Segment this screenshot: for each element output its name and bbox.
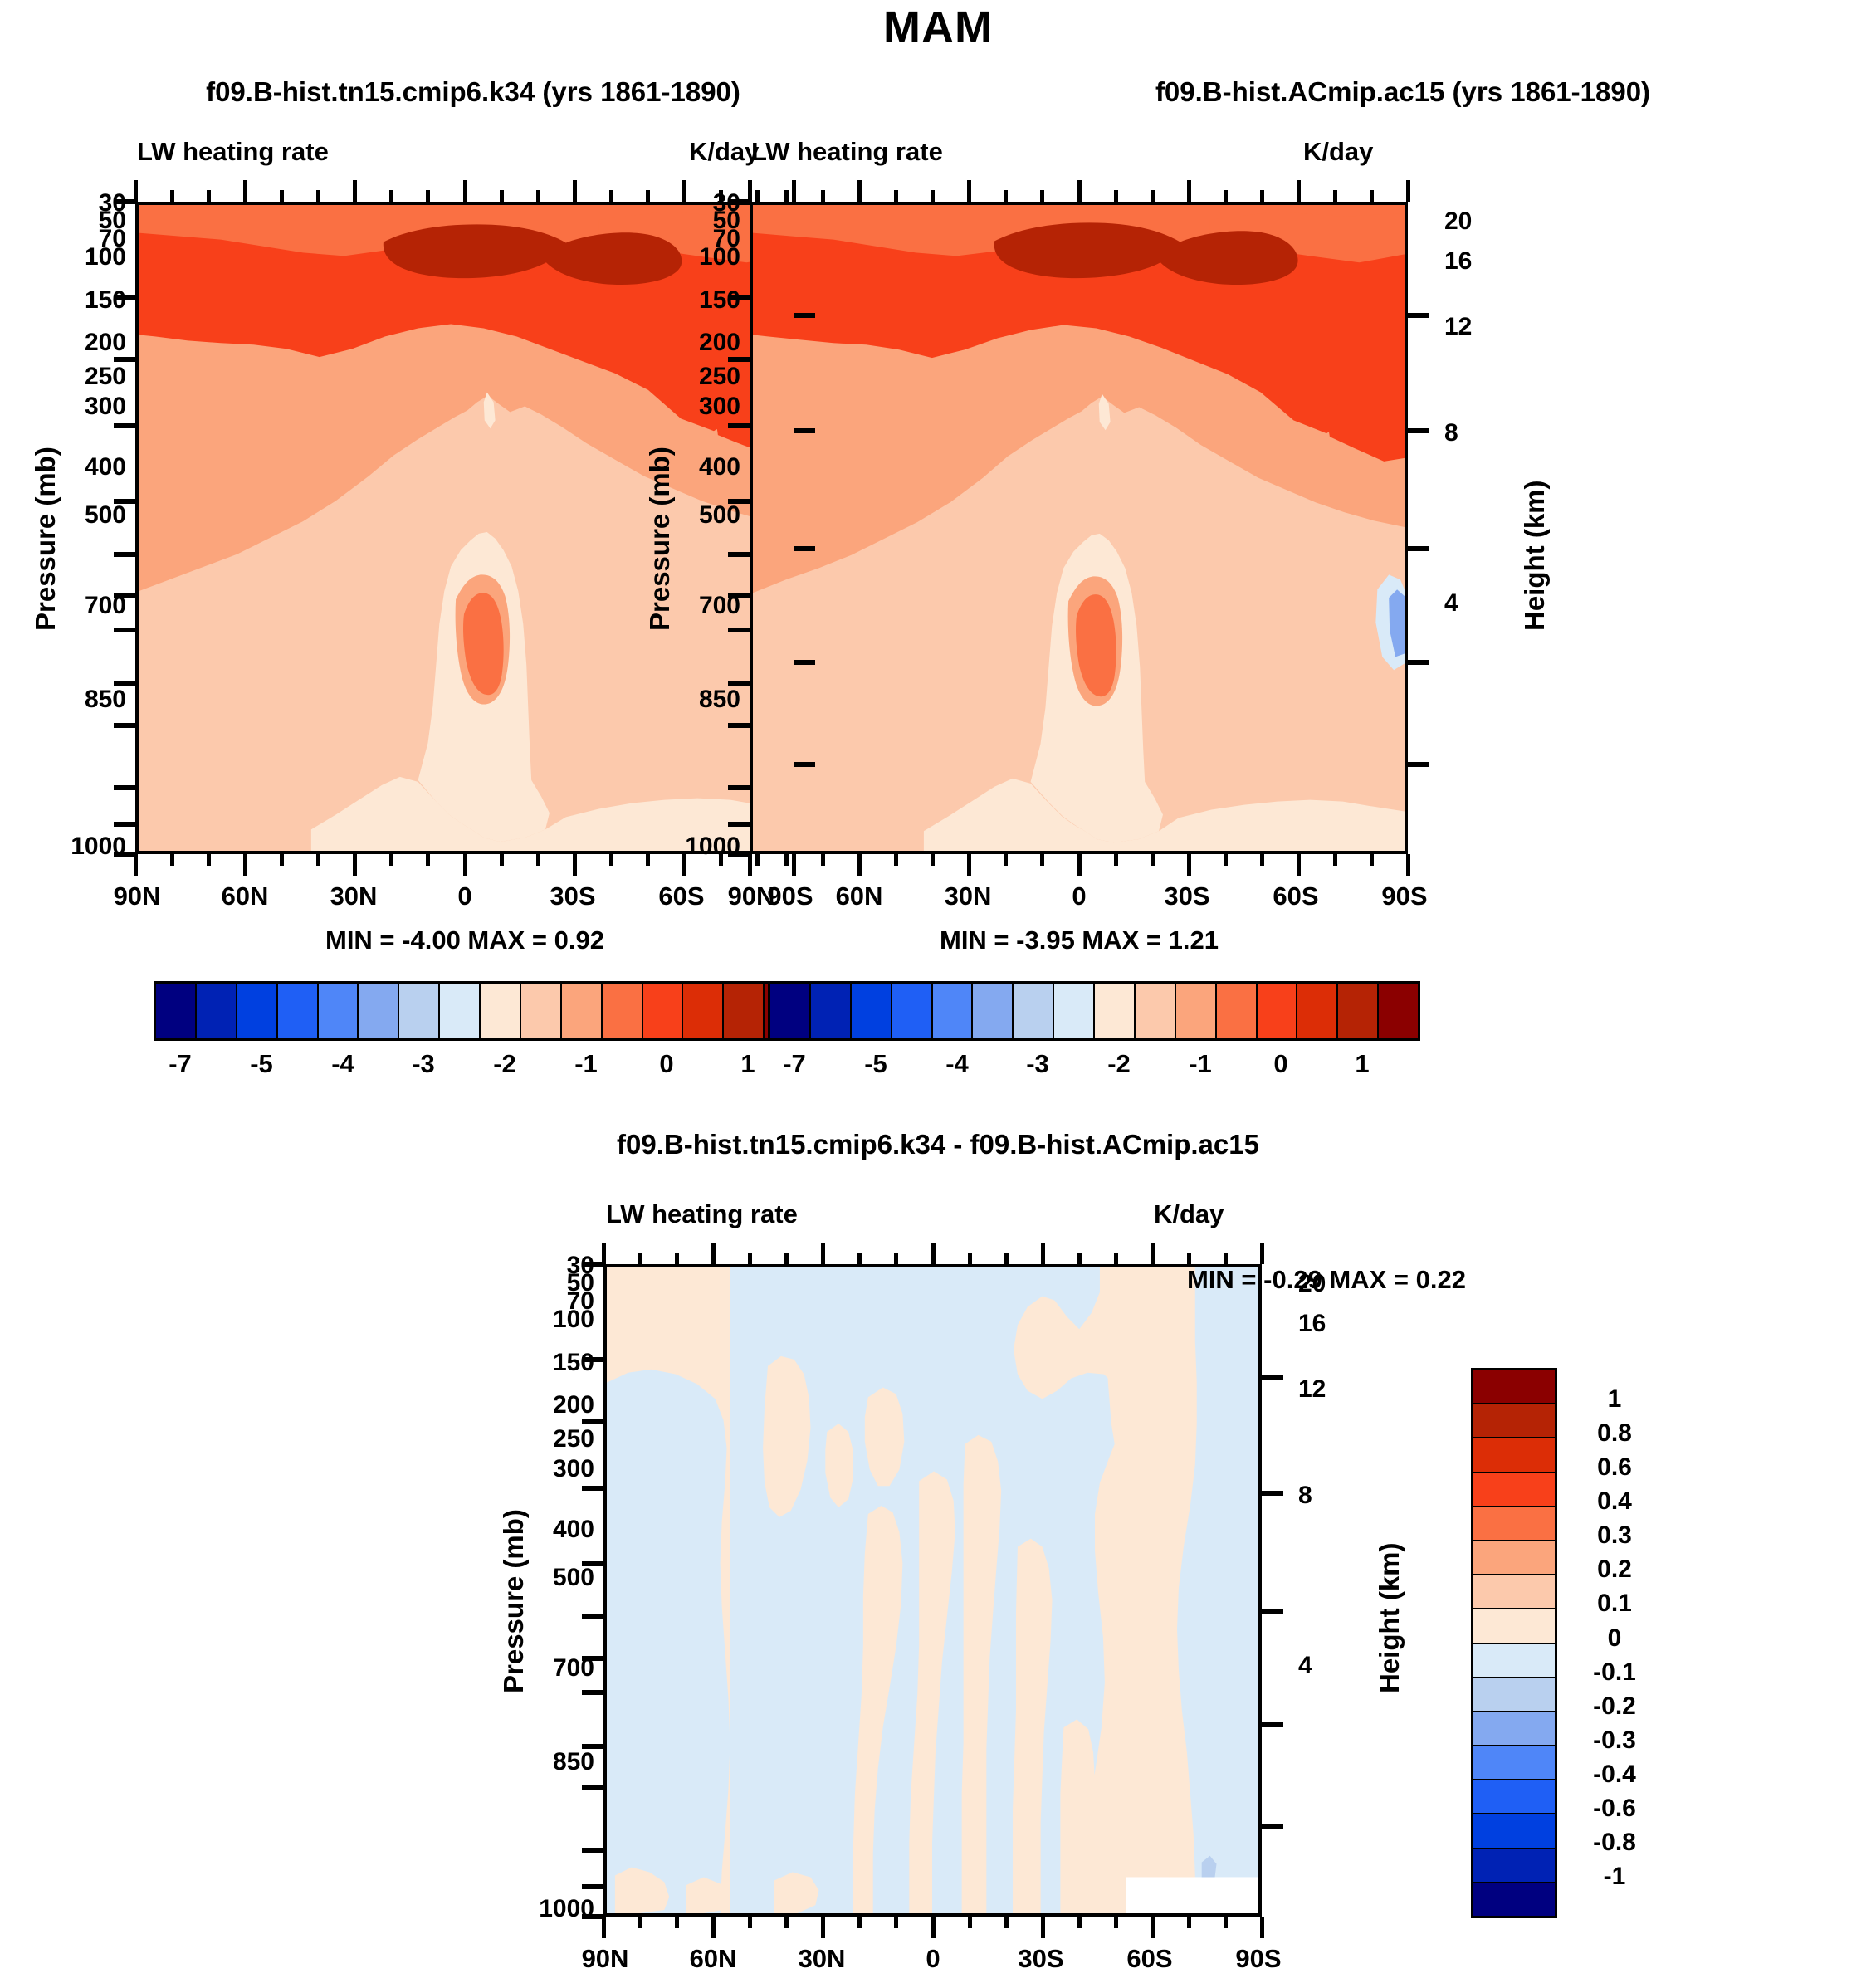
x-axis-major-tick — [1297, 854, 1301, 876]
colorbar-swatch — [1297, 984, 1338, 1038]
units-label-right: K/day — [1303, 137, 1373, 167]
x-axis-major-tick — [243, 854, 247, 876]
y2-axis-tick — [1262, 1491, 1283, 1496]
y-axis-tick — [728, 357, 750, 362]
y-axis-tick — [114, 681, 135, 686]
x-axis-top-minor-tick — [389, 190, 393, 202]
colorbar-swatch — [770, 984, 811, 1038]
colorbar-swatch — [359, 984, 399, 1038]
colorbar-swatch — [1473, 1849, 1555, 1883]
x-axis-major-tick — [463, 854, 467, 876]
x-axis-top-major-tick — [573, 180, 577, 202]
colorbar-diff-tick-label: -0.1 — [1569, 1658, 1660, 1687]
colorbar-swatch — [811, 984, 852, 1038]
x-axis-minor-tick — [1260, 854, 1264, 866]
page-title: MAM — [0, 2, 1876, 53]
colorbar-swatch — [278, 984, 319, 1038]
units-label-diff: K/day — [1154, 1199, 1224, 1229]
x-axis-major-tick — [573, 854, 577, 876]
colorbar-swatch — [1473, 1473, 1555, 1507]
y2-axis-title-diff: Height (km) — [1374, 1543, 1405, 1694]
y-axis-tick — [114, 785, 135, 790]
x-axis-top-major-tick — [792, 180, 796, 202]
x-axis-top-minor-tick — [719, 190, 723, 202]
colorbar-swatch — [562, 984, 603, 1038]
x-axis-minor-tick — [1077, 1917, 1082, 1928]
x-axis-major-tick — [1041, 1917, 1045, 1938]
x-axis-minor-tick — [1370, 854, 1374, 866]
x-axis-top-minor-tick — [500, 190, 504, 202]
colorbar-swatch — [237, 984, 278, 1038]
colorbar-swatch — [1473, 1746, 1555, 1780]
minmax-diff: MIN = -0.29 MAX = 0.22 — [1187, 1265, 1718, 1295]
y-axis-tick — [728, 593, 750, 598]
colorbar-swatch — [1473, 1438, 1555, 1473]
colorbar-swatch — [1379, 984, 1418, 1038]
y-axis-tick — [114, 552, 135, 557]
x-axis-minor-tick — [280, 854, 284, 866]
x-axis-minor-tick — [1114, 854, 1118, 866]
colorbar-swatch — [1473, 1678, 1555, 1712]
x-axis-major-tick — [1187, 854, 1191, 876]
y-axis-title-right: Pressure (mb) — [644, 447, 676, 631]
colorbar-diff[interactable] — [1471, 1368, 1557, 1918]
y-axis-tick — [582, 1561, 603, 1566]
x-axis-top-minor-tick — [1224, 190, 1228, 202]
x-axis-top-minor-tick — [968, 1253, 972, 1264]
colorbar-swatch — [1473, 1644, 1555, 1678]
x-axis-major-tick — [682, 854, 686, 876]
x-axis-top-major-tick — [1187, 180, 1191, 202]
panel-title-right: f09.B-hist.ACmip.ac15 (yrs 1861-1890) — [963, 76, 1843, 108]
x-axis-major-tick — [134, 854, 138, 876]
colorbar-left[interactable] — [154, 981, 806, 1041]
colorbar-diff-tick-label: 0.2 — [1569, 1556, 1660, 1584]
x-axis-minor-tick — [1004, 854, 1008, 866]
x-axis-minor-tick — [500, 854, 504, 866]
x-axis-major-tick — [1260, 1917, 1264, 1938]
x-axis-top-minor-tick — [170, 190, 174, 202]
x-axis-top-minor-tick — [1004, 1253, 1009, 1264]
y2-axis-tick — [1408, 762, 1429, 767]
y2-axis-title-right: Height (km) — [1519, 481, 1551, 632]
x-axis-major-tick — [792, 854, 796, 876]
colorbar-swatch — [1054, 984, 1095, 1038]
colorbar-right[interactable] — [768, 981, 1420, 1041]
colorbar-diff-tick-label: 0 — [1569, 1624, 1660, 1653]
y2-axis-tick — [1262, 1609, 1283, 1614]
y-axis-tick — [582, 1884, 603, 1889]
colorbar-swatch — [1176, 984, 1217, 1038]
colorbar-swatch — [1217, 984, 1258, 1038]
x-axis-top-minor-tick — [1224, 1253, 1228, 1264]
y2-axis-tick — [1408, 428, 1429, 433]
colorbar-swatch — [933, 984, 974, 1038]
x-axis-top-minor-tick — [646, 190, 650, 202]
y-axis-tick — [582, 1614, 603, 1619]
x-axis-top-minor-tick — [1114, 190, 1118, 202]
panel-title-left: f09.B-hist.tn15.cmip6.k34 (yrs 1861-1890… — [33, 76, 913, 108]
y-axis-tick — [582, 1785, 603, 1790]
x-axis-top-minor-tick — [894, 1253, 898, 1264]
y-axis-tick — [114, 199, 135, 204]
colorbar-swatch — [724, 984, 765, 1038]
x-axis-minor-tick — [426, 854, 430, 866]
y2-axis-tick — [1262, 1824, 1283, 1829]
panel-title-diff: f09.B-hist.tn15.cmip6.k34 - f09.B-hist.A… — [448, 1129, 1428, 1160]
colorbar-diff-tick-label: -0.2 — [1569, 1692, 1660, 1721]
y-axis-tick — [728, 822, 750, 827]
colorbar-swatch — [683, 984, 724, 1038]
minmax-right: MIN = -3.95 MAX = 1.21 — [739, 926, 1419, 955]
x-axis-minor-tick — [170, 854, 174, 866]
y2-axis-tick — [1262, 1722, 1283, 1727]
x-axis-minor-tick — [968, 1917, 972, 1928]
y-axis-tick — [582, 1914, 603, 1919]
x-axis-minor-tick — [894, 1917, 898, 1928]
x-axis-major-tick — [1077, 854, 1082, 876]
x-axis-top-major-tick — [711, 1243, 716, 1264]
colorbar-diff-tick-label: -0.4 — [1569, 1761, 1660, 1789]
x-axis-major-tick — [748, 854, 752, 876]
x-axis-top-minor-tick — [1004, 190, 1008, 202]
x-axis-top-minor-tick — [536, 190, 540, 202]
x-axis-minor-tick — [784, 1917, 789, 1928]
colorbar-swatch — [1473, 1370, 1555, 1404]
y-axis-tick — [114, 852, 135, 857]
x-axis-minor-tick — [1114, 1917, 1118, 1928]
colorbar-diff-tick-label: 0.3 — [1569, 1521, 1660, 1550]
x-axis-top-minor-tick — [1187, 1253, 1191, 1264]
y2-axis-tick — [794, 428, 815, 433]
y2-axis-tick — [1408, 660, 1429, 665]
y-axis-tick — [728, 628, 750, 632]
x-axis-minor-tick — [748, 1917, 752, 1928]
x-axis-minor-tick — [1333, 854, 1337, 866]
contour-field-diff — [607, 1267, 1258, 1913]
x-axis-major-tick — [931, 1917, 936, 1938]
y-axis-tick — [728, 499, 750, 504]
x-axis-minor-tick — [675, 1917, 679, 1928]
x-axis-top-minor-tick — [1077, 1253, 1082, 1264]
x-axis-major-tick — [1406, 854, 1410, 876]
y-axis-tick — [114, 628, 135, 632]
y2-axis-tick — [1262, 1375, 1283, 1380]
x-axis-top-major-tick — [931, 1243, 936, 1264]
x-axis-top-minor-tick — [894, 190, 898, 202]
x-axis-top-minor-tick — [857, 1253, 862, 1264]
x-axis-minor-tick — [1224, 854, 1228, 866]
colorbar-diff-tick-label: -1 — [1569, 1863, 1660, 1891]
units-label-left: K/day — [689, 137, 759, 167]
colorbar-swatch — [197, 984, 237, 1038]
y-axis-tick — [114, 822, 135, 827]
y-axis-tick — [114, 499, 135, 504]
y-axis-tick — [582, 1744, 603, 1749]
x-axis-minor-tick — [646, 854, 650, 866]
x-axis-major-tick — [1151, 1917, 1155, 1938]
colorbar-swatch — [319, 984, 359, 1038]
y-axis-tick — [114, 295, 135, 300]
colorbar-swatch — [603, 984, 643, 1038]
y-axis-tick — [582, 1419, 603, 1424]
x-axis-top-major-tick — [682, 180, 686, 202]
y-axis-title-diff: Pressure (mb) — [498, 1509, 530, 1693]
y-axis-tick — [582, 1848, 603, 1853]
x-axis-top-major-tick — [134, 180, 138, 202]
x-axis-top-major-tick — [1041, 1243, 1045, 1264]
x-axis-top-major-tick — [1260, 1243, 1264, 1264]
x-axis-top-minor-tick — [931, 190, 935, 202]
x-axis-top-minor-tick — [638, 1253, 642, 1264]
field-label-right: LW heating rate — [751, 137, 943, 167]
y-axis-tick — [728, 423, 750, 428]
colorbar-swatch — [852, 984, 892, 1038]
colorbar-swatch — [156, 984, 197, 1038]
x-axis-minor-tick — [389, 854, 393, 866]
colorbar-diff-tick-label: -0.6 — [1569, 1795, 1660, 1823]
y-axis-tick — [728, 199, 750, 204]
x-axis-minor-tick — [821, 854, 825, 866]
x-axis-top-major-tick — [1151, 1243, 1155, 1264]
colorbar-swatch — [1473, 1609, 1555, 1643]
x-axis-minor-tick — [719, 854, 723, 866]
x-axis-minor-tick — [1151, 854, 1155, 866]
x-axis-minor-tick — [894, 854, 898, 866]
colorbar-swatch — [1473, 1541, 1555, 1575]
colorbar-swatch — [1473, 1712, 1555, 1746]
colorbar-swatch — [1258, 984, 1298, 1038]
y-axis-tick — [582, 1656, 603, 1661]
y-axis-title-left: Pressure (mb) — [30, 447, 61, 631]
x-axis-top-major-tick — [748, 180, 752, 202]
x-axis-minor-tick — [536, 854, 540, 866]
y-axis-tick — [114, 357, 135, 362]
y2-axis-tick — [794, 546, 815, 551]
x-axis-major-tick — [967, 854, 971, 876]
x-axis-top-major-tick — [857, 180, 862, 202]
x-axis-top-minor-tick — [280, 190, 284, 202]
x-axis-minor-tick — [638, 1917, 642, 1928]
colorbar-swatch — [892, 984, 933, 1038]
colorbar-diff-tick-label: -0.8 — [1569, 1829, 1660, 1857]
x-axis-minor-tick — [207, 854, 211, 866]
x-axis-top-minor-tick — [784, 190, 789, 202]
colorbar-diff-tick-label: -0.3 — [1569, 1726, 1660, 1755]
x-axis-top-minor-tick — [1333, 190, 1337, 202]
colorbar-swatch — [1473, 1780, 1555, 1814]
y2-axis-tick — [794, 660, 815, 665]
contour-field-right — [753, 205, 1405, 851]
colorbar-swatch — [481, 984, 521, 1038]
y-axis-tick — [582, 1486, 603, 1491]
colorbar-swatch — [399, 984, 440, 1038]
x-axis-minor-tick — [1004, 1917, 1009, 1928]
x-axis-top-major-tick — [243, 180, 247, 202]
x-axis-top-minor-tick — [207, 190, 211, 202]
colorbar-swatch — [1473, 1883, 1555, 1916]
minmax-left: MIN = -4.00 MAX = 0.92 — [125, 926, 805, 955]
x-axis-major-tick — [602, 1917, 606, 1938]
colorbar-swatch — [440, 984, 481, 1038]
x-axis-top-minor-tick — [821, 190, 825, 202]
x-axis-top-major-tick — [602, 1243, 606, 1264]
x-axis-minor-tick — [857, 1917, 862, 1928]
x-axis-top-major-tick — [821, 1243, 825, 1264]
x-axis-top-minor-tick — [784, 1253, 789, 1264]
colorbar-swatch — [1473, 1814, 1555, 1849]
x-axis-minor-tick — [609, 854, 613, 866]
colorbar-diff-tick-label: 0.1 — [1569, 1590, 1660, 1618]
colorbar-swatch — [521, 984, 562, 1038]
y-axis-tick — [114, 593, 135, 598]
colorbar-diff-tick-label: 1 — [1569, 1385, 1660, 1414]
y2-axis-tick — [794, 762, 815, 767]
x-axis-top-major-tick — [1297, 180, 1301, 202]
x-axis-top-major-tick — [353, 180, 357, 202]
colorbar-swatch — [643, 984, 684, 1038]
x-axis-top-minor-tick — [1260, 190, 1264, 202]
x-axis-top-minor-tick — [755, 190, 760, 202]
colorbar-swatch — [1014, 984, 1054, 1038]
colorbar-swatch — [973, 984, 1014, 1038]
y-axis-tick — [728, 681, 750, 686]
x-axis-minor-tick — [1040, 854, 1044, 866]
x-axis-major-tick — [353, 854, 357, 876]
y-axis-tick — [582, 1357, 603, 1362]
x-axis-major-tick — [821, 1917, 825, 1938]
y-axis-tick — [728, 295, 750, 300]
colorbar-swatch — [1473, 1507, 1555, 1541]
x-axis-minor-tick — [784, 854, 789, 866]
colorbar-swatch — [1136, 984, 1176, 1038]
colorbar-diff-tick-label: 0.8 — [1569, 1419, 1660, 1448]
contour-plot-diff[interactable] — [603, 1264, 1262, 1917]
colorbar-swatch — [1338, 984, 1379, 1038]
x-axis-top-minor-tick — [1370, 190, 1374, 202]
field-label-diff: LW heating rate — [606, 1199, 798, 1229]
x-axis-minor-tick — [1224, 1917, 1228, 1928]
x-axis-top-minor-tick — [316, 190, 320, 202]
x-axis-top-major-tick — [1406, 180, 1410, 202]
x-axis-minor-tick — [931, 854, 935, 866]
y-axis-tick — [114, 423, 135, 428]
x-axis-minor-tick — [755, 854, 760, 866]
y-axis-tick — [582, 1262, 603, 1267]
x-axis-top-minor-tick — [426, 190, 430, 202]
x-axis-top-minor-tick — [675, 1253, 679, 1264]
x-axis-top-major-tick — [967, 180, 971, 202]
x-axis-major-tick — [857, 854, 862, 876]
y-axis-tick — [582, 1690, 603, 1695]
x-axis-top-minor-tick — [1040, 190, 1044, 202]
y-axis-tick — [114, 723, 135, 728]
contour-plot-right[interactable] — [750, 202, 1408, 854]
x-axis-minor-tick — [316, 854, 320, 866]
field-label-left: LW heating rate — [137, 137, 329, 167]
x-axis-top-minor-tick — [609, 190, 613, 202]
y-axis-tick — [728, 552, 750, 557]
x-axis-top-major-tick — [463, 180, 467, 202]
colorbar-diff-tick-label: 0.6 — [1569, 1453, 1660, 1482]
x-axis-major-tick — [711, 1917, 716, 1938]
x-axis-top-major-tick — [1077, 180, 1082, 202]
colorbar-swatch — [1473, 1404, 1555, 1438]
y2-axis-tick — [1408, 313, 1429, 318]
colorbar-diff-tick-label: 0.4 — [1569, 1487, 1660, 1516]
y-axis-tick — [728, 723, 750, 728]
y-axis-tick — [728, 852, 750, 857]
colorbar-swatch — [1473, 1575, 1555, 1609]
y2-axis-tick — [794, 313, 815, 318]
x-axis-top-minor-tick — [1114, 1253, 1118, 1264]
y2-axis-tick — [1408, 546, 1429, 551]
x-axis-minor-tick — [1187, 1917, 1191, 1928]
x-axis-top-minor-tick — [1151, 190, 1155, 202]
y-axis-tick — [728, 785, 750, 790]
x-axis-top-minor-tick — [748, 1253, 752, 1264]
colorbar-swatch — [1095, 984, 1136, 1038]
